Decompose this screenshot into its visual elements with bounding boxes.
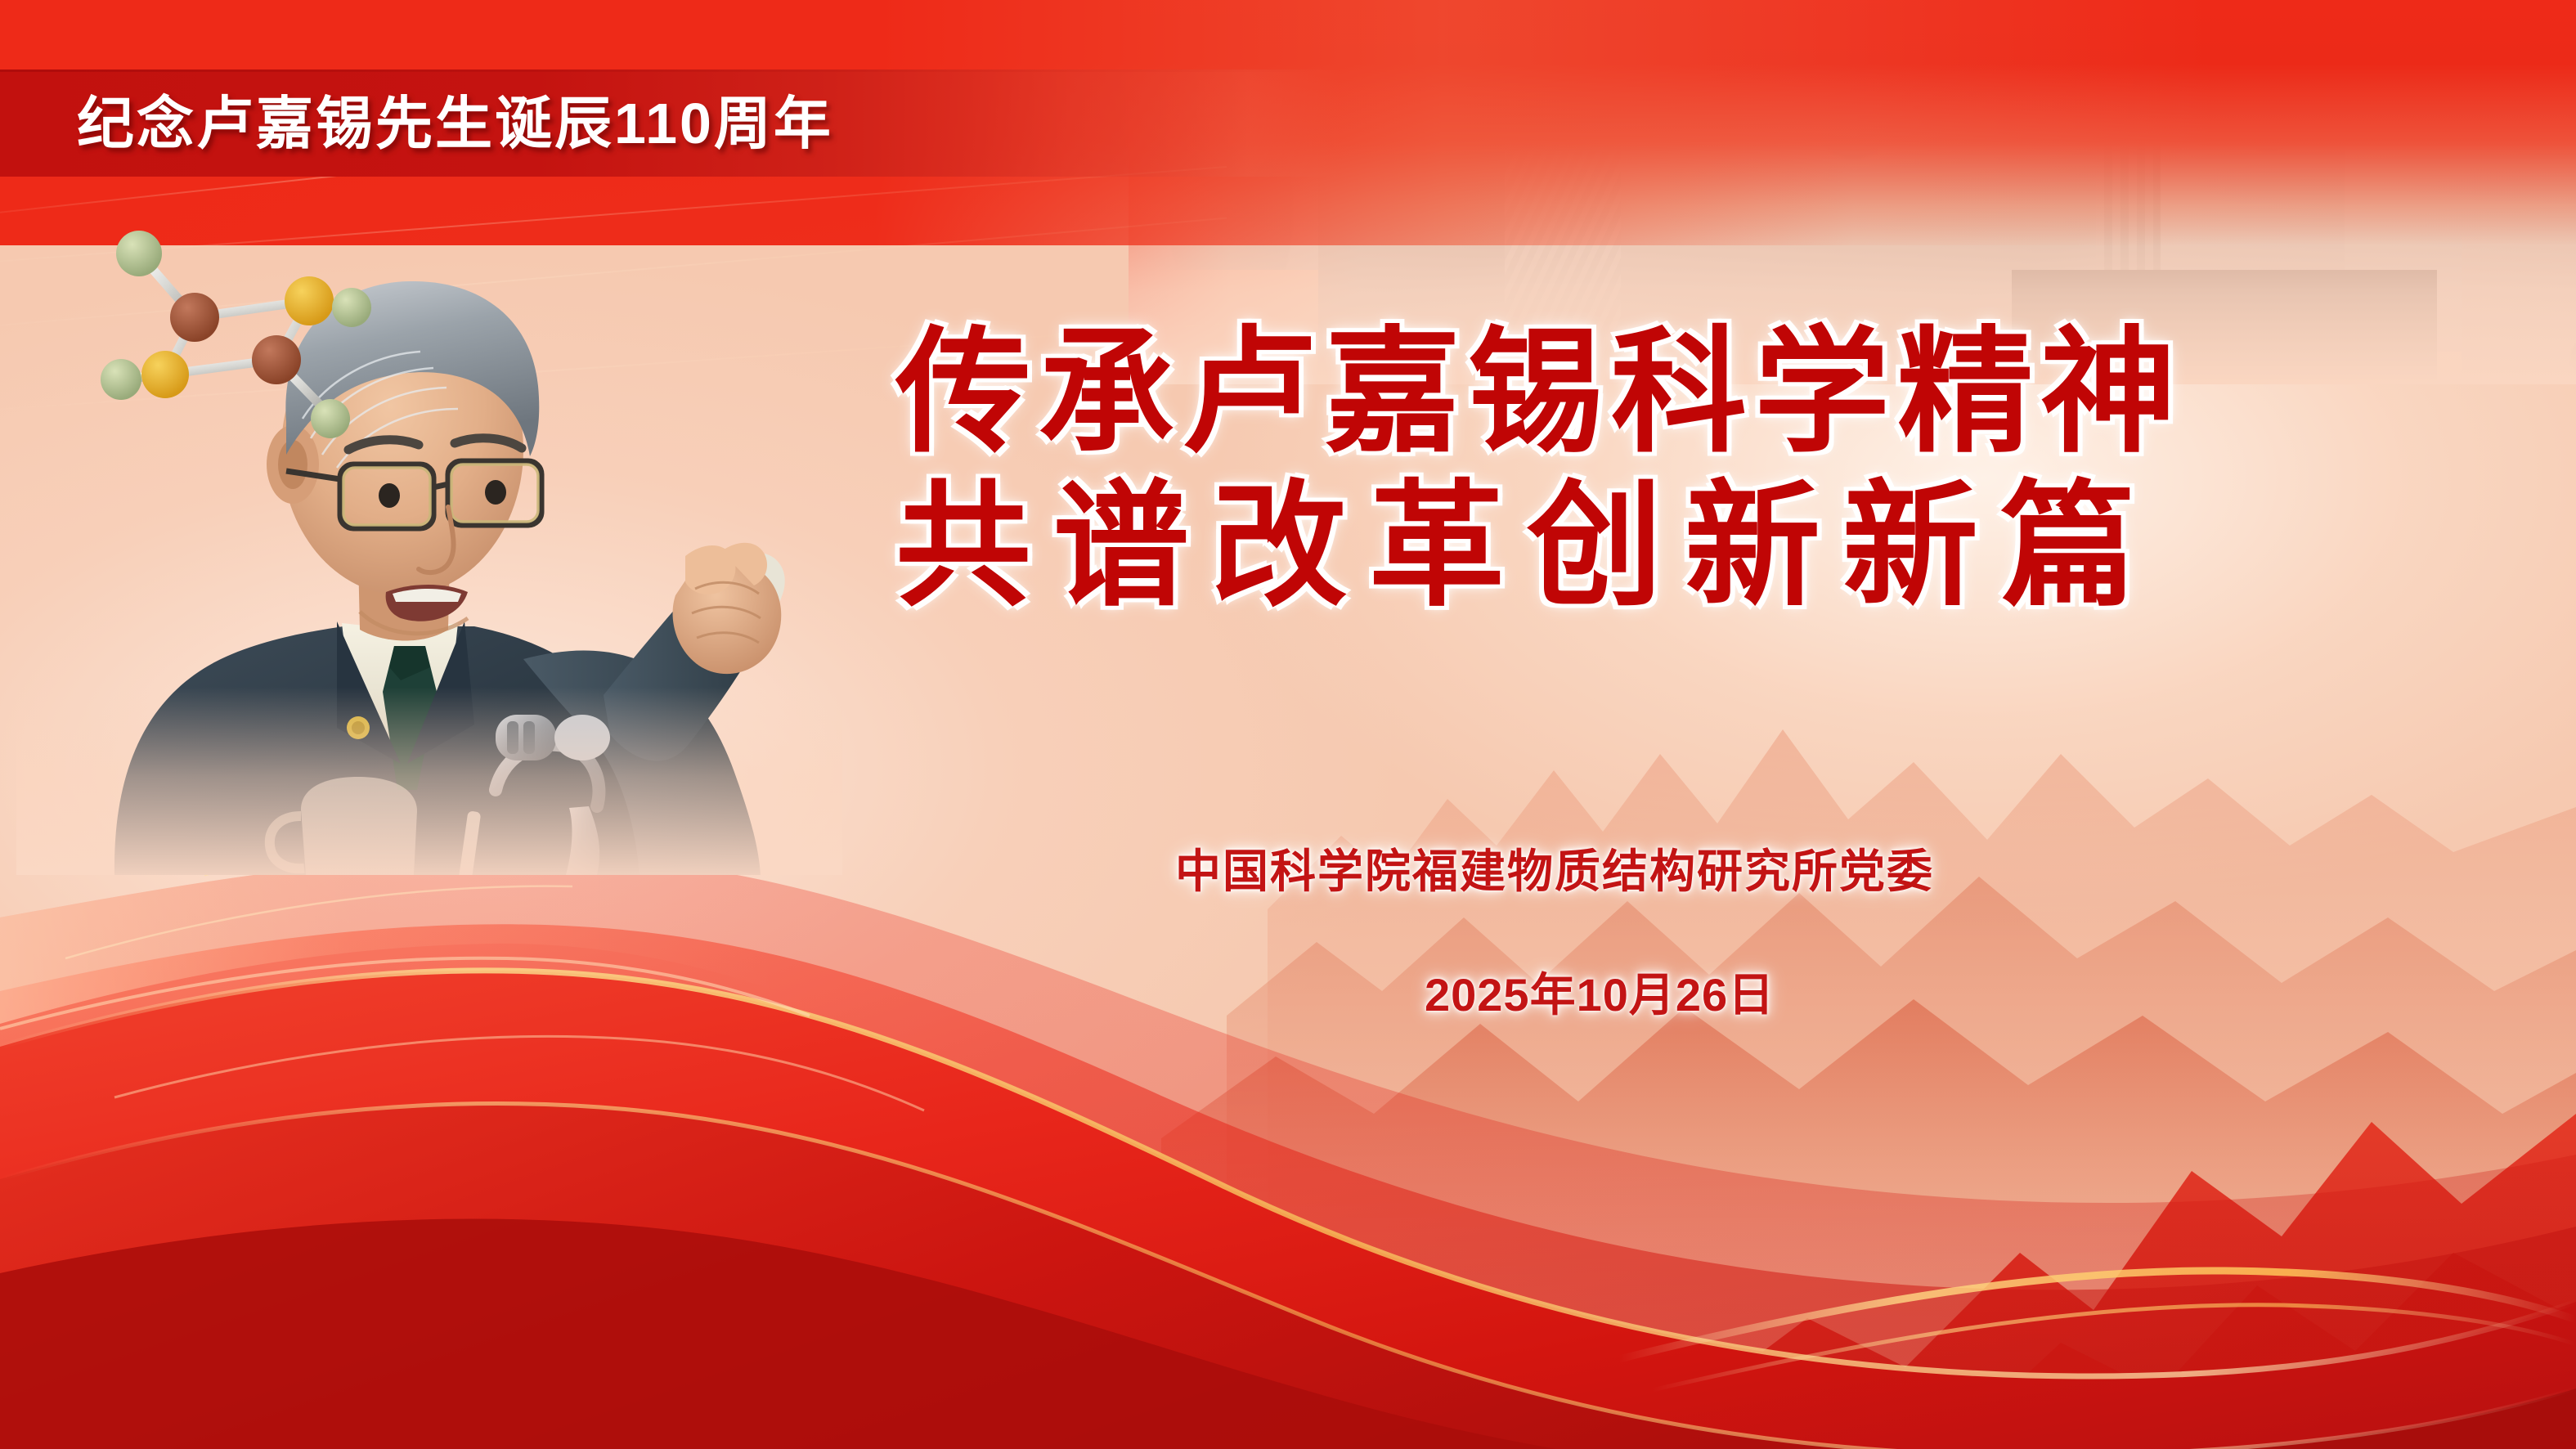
anniversary-banner-text: 纪念卢嘉锡先生诞辰110周年 (77, 95, 833, 152)
main-title-block: 传承卢嘉锡科学精神 共谱改革创新新篇 (895, 325, 2498, 615)
portrait-bottom-fade (16, 687, 842, 875)
poster-canvas: 纪念卢嘉锡先生诞辰110周年 传承卢嘉锡科学精神 共谱改革创新新篇 中国科学院福… (0, 0, 2576, 1449)
anniversary-banner-top-edge (0, 70, 1341, 72)
organization-name: 中国科学院福建物质结构研究所党委 (1175, 835, 1934, 901)
raised-hand (673, 543, 782, 674)
main-title-line-2: 共谱改革创新新篇 (895, 479, 2498, 615)
main-title-line-1: 传承卢嘉锡科学精神 (895, 325, 2498, 461)
event-date: 2025年10月26日 (1425, 958, 1775, 1025)
anniversary-banner: 纪念卢嘉锡先生诞辰110周年 (0, 70, 1341, 177)
portrait-lu-jiaxi (16, 204, 842, 875)
